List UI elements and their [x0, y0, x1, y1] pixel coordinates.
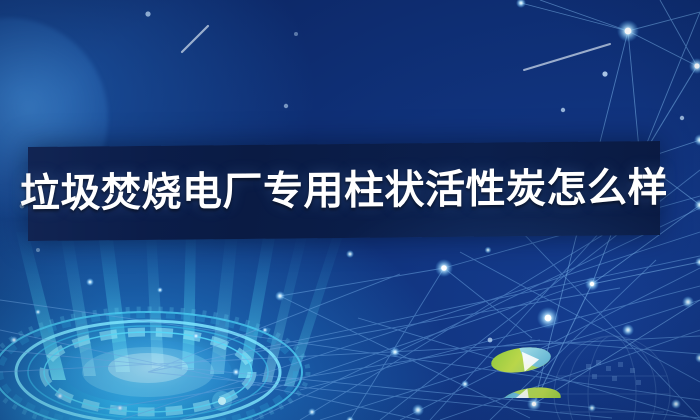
logo-lower-mark	[500, 384, 563, 398]
page-title: 垃圾焚烧电厂专用柱状活性炭怎么样	[28, 141, 660, 241]
meteor-right	[524, 44, 610, 70]
company-logo[interactable]	[487, 342, 565, 398]
meteor-left	[182, 26, 208, 52]
banner-canvas: 垃圾焚烧电厂专用柱状活性炭怎么样	[0, 0, 700, 420]
logo-upper-mark	[490, 344, 553, 376]
page-title-text: 垃圾焚烧电厂专用柱状活性炭怎么样	[20, 168, 668, 214]
